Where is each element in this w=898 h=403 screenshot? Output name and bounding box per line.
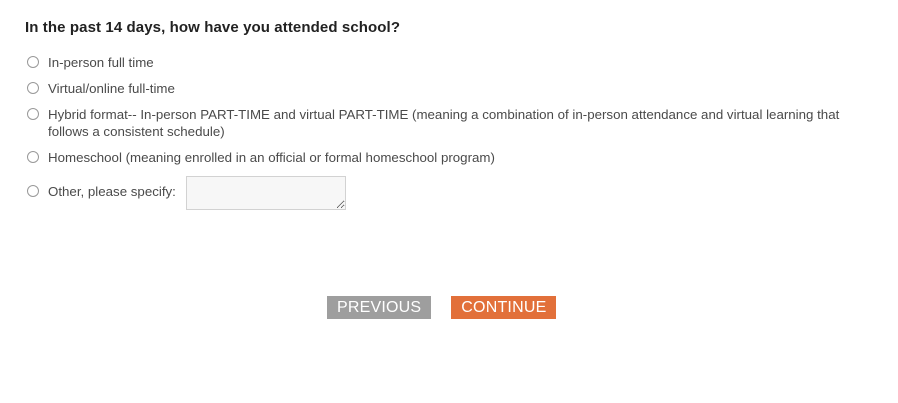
other-specify-textarea[interactable] <box>186 176 346 210</box>
continue-button[interactable]: CONTINUE <box>451 296 556 319</box>
radio-virtual-online-full-time[interactable] <box>27 82 39 94</box>
option-in-person-full-time[interactable]: In-person full time <box>25 54 875 71</box>
option-homeschool[interactable]: Homeschool (meaning enrolled in an offic… <box>25 149 875 166</box>
page-title: In the past 14 days, how have you attend… <box>25 19 400 36</box>
option-label-homeschool[interactable]: Homeschool (meaning enrolled in an offic… <box>48 149 495 166</box>
radio-other[interactable] <box>27 185 39 197</box>
radio-homeschool[interactable] <box>27 151 39 163</box>
radio-hybrid-format[interactable] <box>27 108 39 120</box>
radio-group: In-person full time Virtual/online full-… <box>25 54 875 219</box>
option-other[interactable]: Other, please specify: <box>25 176 875 210</box>
option-label-other[interactable]: Other, please specify: <box>48 183 176 200</box>
navigation-buttons: PREVIOUS CONTINUE <box>327 296 556 319</box>
option-label-in-person-full-time[interactable]: In-person full time <box>48 54 154 71</box>
option-label-hybrid-format[interactable]: Hybrid format-- In-person PART-TIME and … <box>48 106 870 140</box>
option-label-virtual-online-full-time[interactable]: Virtual/online full-time <box>48 80 175 97</box>
previous-button[interactable]: PREVIOUS <box>327 296 431 319</box>
option-virtual-online-full-time[interactable]: Virtual/online full-time <box>25 80 875 97</box>
option-hybrid-format[interactable]: Hybrid format-- In-person PART-TIME and … <box>25 106 875 140</box>
radio-in-person-full-time[interactable] <box>27 56 39 68</box>
